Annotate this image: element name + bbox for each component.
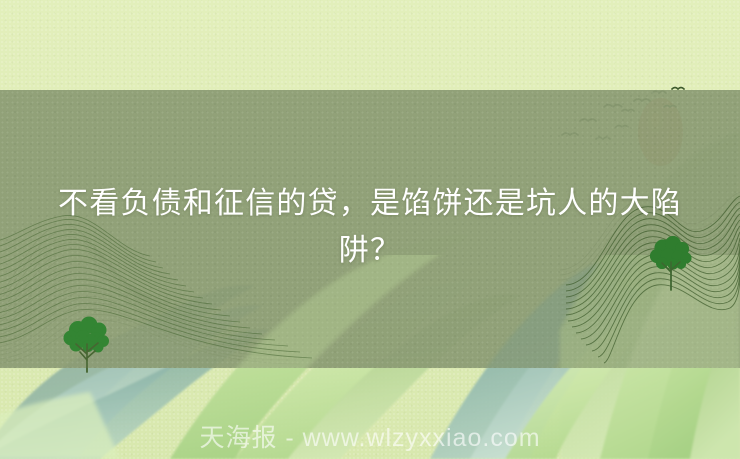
tree-left-overlay-svg: [56, 314, 122, 374]
watermark-text: 天海报 - www.wlzyxxiao.com: [0, 418, 740, 454]
tree-left-overlay-icon: [56, 314, 122, 379]
page-title: 不看负债和征信的贷，是馅饼还是坑人的大陷阱？: [0, 180, 740, 274]
poster-canvas: 不看负债和征信的贷，是馅饼还是坑人的大陷阱？ 天海报 - www.wlzyxxi…: [0, 0, 740, 459]
